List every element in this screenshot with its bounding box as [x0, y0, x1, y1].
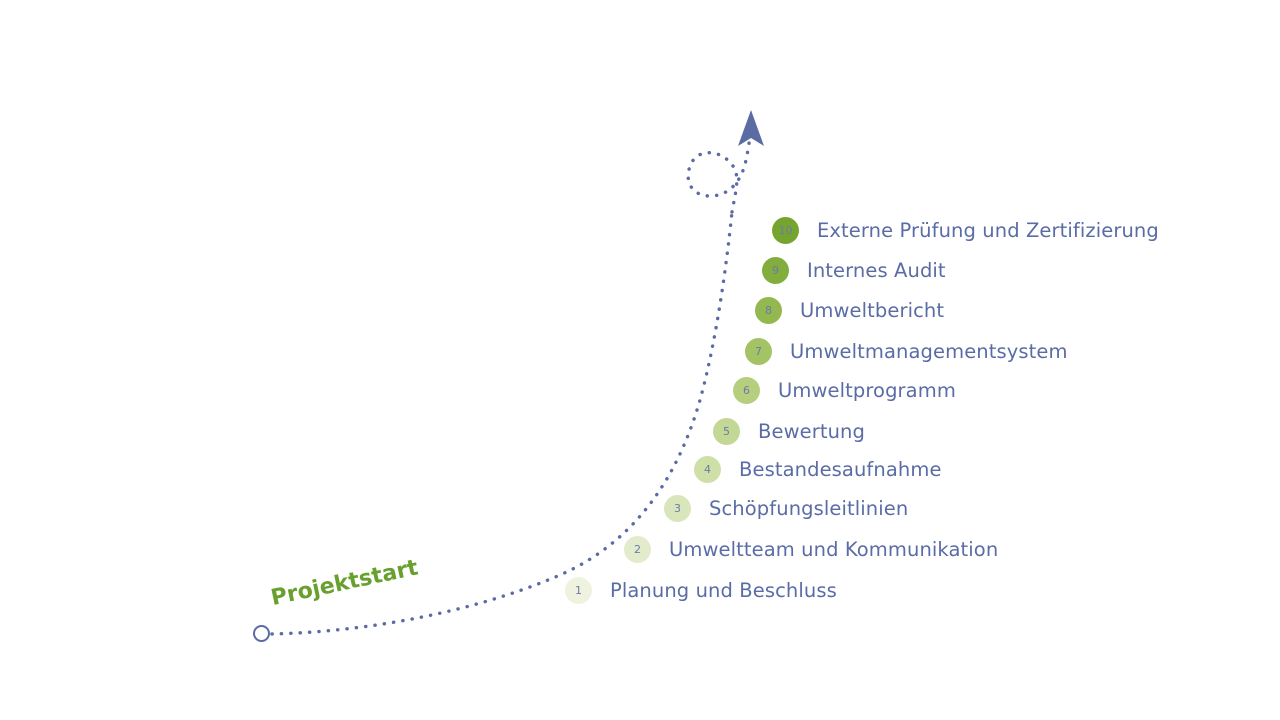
step-number-badge: 8: [755, 297, 782, 324]
step-label: Umweltbericht: [800, 299, 944, 322]
step-row[interactable]: 2Umweltteam und Kommunikation: [624, 536, 998, 563]
step-number-badge: 1: [565, 577, 592, 604]
rooster-icon: [722, 40, 778, 96]
step-label: Internes Audit: [807, 259, 946, 282]
step-number-badge: 6: [733, 377, 760, 404]
gruener-hahn-logo: [712, 30, 788, 106]
step-label: Umweltmanagementsystem: [790, 340, 1068, 363]
roadmap-path-graphic: [0, 0, 1280, 720]
diagram-canvas: Projektstart 1Planung und Beschluss2Umwe…: [0, 0, 1280, 720]
step-row[interactable]: 1Planung und Beschluss: [565, 577, 837, 604]
step-label: Umweltteam und Kommunikation: [669, 538, 998, 561]
step-number-badge: 3: [664, 495, 691, 522]
step-label: Externe Prüfung und Zertifizierung: [817, 219, 1159, 242]
step-number-badge: 5: [713, 418, 740, 445]
step-label: Schöpfungsleitlinien: [709, 497, 908, 520]
step-row[interactable]: 5Bewertung: [713, 418, 865, 445]
start-ring-icon: [253, 625, 270, 642]
step-row[interactable]: 8Umweltbericht: [755, 297, 944, 324]
step-number-badge: 9: [762, 257, 789, 284]
step-row[interactable]: 9Internes Audit: [762, 257, 946, 284]
step-row[interactable]: 3Schöpfungsleitlinien: [664, 495, 908, 522]
step-label: Bestandesaufnahme: [739, 458, 942, 481]
projektstart-label: Projektstart: [269, 555, 420, 611]
step-row[interactable]: 7Umweltmanagementsystem: [745, 338, 1068, 365]
step-number-badge: 4: [694, 456, 721, 483]
step-number-badge: 10: [772, 217, 799, 244]
step-label: Umweltprogramm: [778, 379, 956, 402]
arrow-up-icon: [738, 110, 764, 146]
step-label: Planung und Beschluss: [610, 579, 837, 602]
step-row[interactable]: 6Umweltprogramm: [733, 377, 956, 404]
step-number-badge: 2: [624, 536, 651, 563]
step-number-badge: 7: [745, 338, 772, 365]
dotted-loop-icon: [688, 128, 750, 212]
step-row[interactable]: 4Bestandesaufnahme: [694, 456, 942, 483]
step-row[interactable]: 10Externe Prüfung und Zertifizierung: [772, 217, 1159, 244]
step-label: Bewertung: [758, 420, 865, 443]
